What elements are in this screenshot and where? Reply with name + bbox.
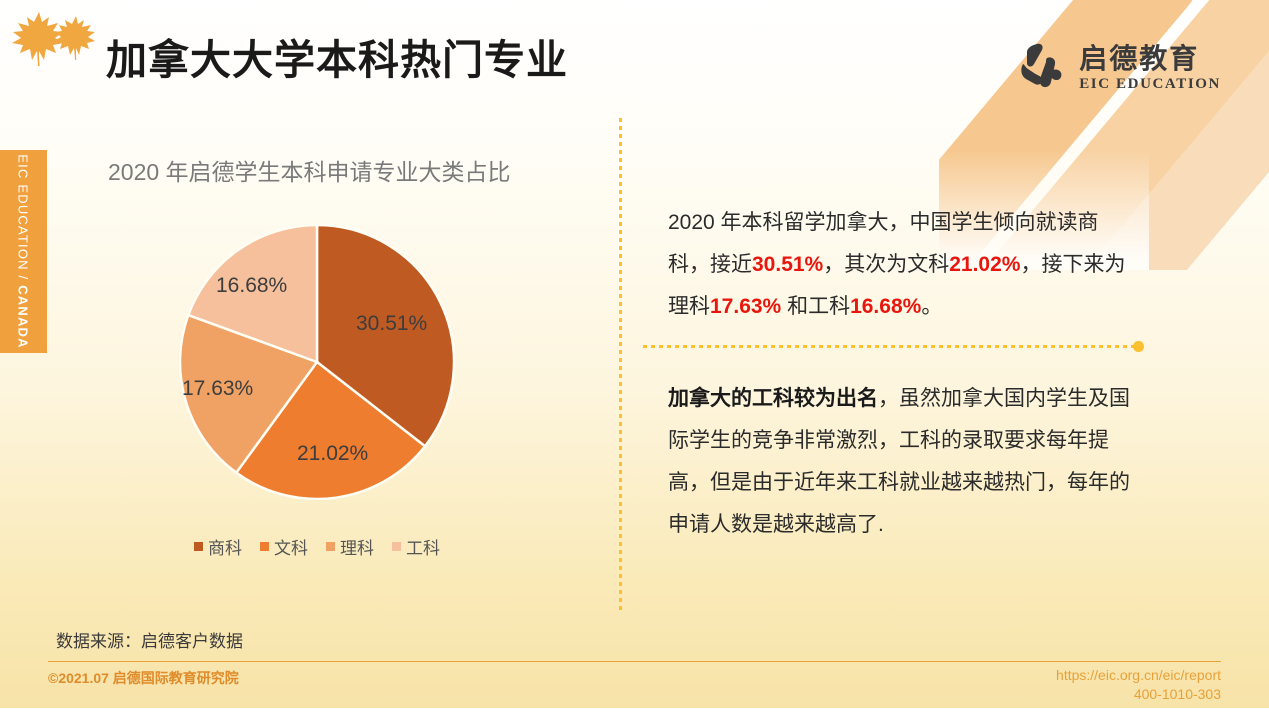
para1-highlight-engineering: 16.68%	[850, 295, 921, 318]
legend-item: 工科	[392, 534, 440, 559]
side-tab-label: EIC EDUCATION / CANADA	[16, 154, 31, 348]
legend-label: 文科	[274, 534, 308, 559]
side-tab-canada: EIC EDUCATION / CANADA	[0, 150, 47, 353]
side-tab-prefix: EIC EDUCATION /	[16, 154, 31, 285]
vertical-dotted-divider	[619, 118, 622, 610]
footer-contact: https://eic.org.cn/eic/report 400-1010-3…	[1056, 666, 1221, 704]
pie-chart-svg	[179, 224, 455, 500]
paragraph-summary: 2020 年本科留学加拿大，中国学生倾向就读商科，接近30.51%，其次为文科2…	[668, 202, 1138, 328]
brand-logo: 启德教育 EIC EDUCATION	[1017, 42, 1221, 94]
side-tab-region: CANADA	[16, 285, 31, 349]
footer-phone: 400-1010-303	[1056, 685, 1221, 704]
footer-divider	[48, 661, 1221, 662]
para1-seg5: 。	[921, 295, 942, 318]
legend-item: 理科	[326, 534, 374, 559]
para1-highlight-science: 17.63%	[710, 295, 781, 318]
legend-swatch-icon	[260, 542, 269, 551]
legend-item: 文科	[260, 534, 308, 559]
slide-canvas: 加拿大大学本科热门专业 启德教育 EIC EDUCATION EIC EDUCA…	[0, 0, 1269, 712]
legend-swatch-icon	[194, 542, 203, 551]
paragraph-engineering: 加拿大的工科较为出名，虽然加拿大国内学生及国际学生的竞争非常激烈，工科的录取要求…	[668, 378, 1138, 546]
copyright-note: ©2021.07 启德国际教育研究院	[48, 668, 239, 688]
legend-swatch-icon	[326, 542, 335, 551]
pie-chart: 30.51% 21.02% 17.63% 16.68%	[179, 224, 455, 500]
para1-seg2: ，其次为文科	[823, 253, 949, 276]
legend-label: 商科	[208, 534, 242, 559]
legend-label: 理科	[340, 534, 374, 559]
logo-text-en: EIC EDUCATION	[1079, 77, 1221, 92]
chart-legend: 商科文科理科工科	[179, 534, 455, 559]
legend-item: 商科	[194, 534, 242, 559]
para1-highlight-arts: 21.02%	[949, 253, 1020, 276]
eic-logo-mark-icon	[1017, 42, 1067, 94]
logo-text-cn: 启德教育	[1079, 45, 1221, 73]
divider-end-dot-icon	[1133, 341, 1144, 352]
legend-label: 工科	[406, 534, 440, 559]
para2-lead: 加拿大的工科较为出名	[668, 387, 878, 410]
page-title: 加拿大大学本科热门专业	[106, 26, 568, 86]
para1-seg4: 和工科	[781, 295, 850, 318]
maple-leaf-icon	[6, 8, 96, 70]
horizontal-dotted-divider	[643, 345, 1135, 348]
bottom-edge-bar	[0, 708, 1269, 712]
para1-highlight-business: 30.51%	[752, 253, 823, 276]
footer-url[interactable]: https://eic.org.cn/eic/report	[1056, 666, 1221, 685]
data-source-note: 数据来源：启德客户数据	[56, 627, 243, 652]
legend-swatch-icon	[392, 542, 401, 551]
chart-subtitle: 2020 年启德学生本科申请专业大类占比	[108, 153, 511, 187]
